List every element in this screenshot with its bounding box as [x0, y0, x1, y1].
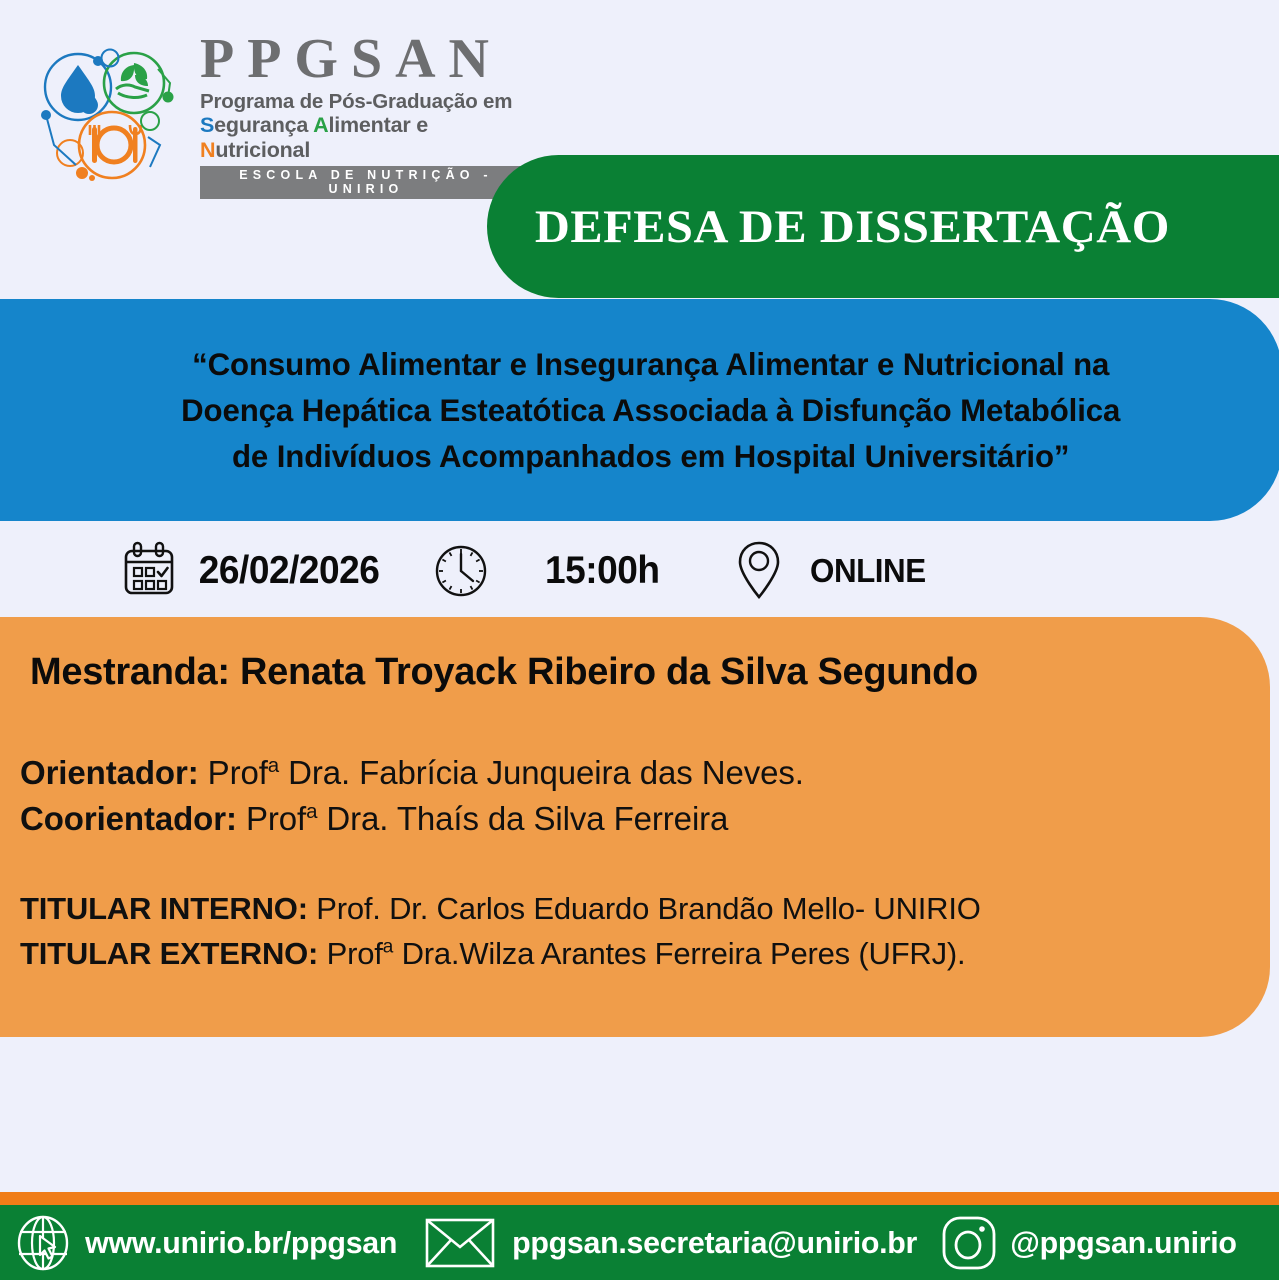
- external-member-line: TITULAR EXTERNO: Profa Dra.Wilza Arantes…: [20, 932, 1270, 977]
- thesis-title-band: “Consumo Alimentar e Insegurança Aliment…: [0, 299, 1279, 521]
- footer-website-text: www.unirio.br/ppgsan: [85, 1225, 397, 1261]
- event-date-text: 26/02/2026: [199, 549, 380, 593]
- ppgsan-n-letter: N: [200, 138, 215, 162]
- ppgsan-alimentar-text: limentar e: [328, 113, 428, 137]
- internal-member-line: TITULAR INTERNO: Prof. Dr. Carlos Eduard…: [20, 887, 1270, 932]
- poster-canvas: PPGSAN Programa de Pós-Graduação em Segu…: [0, 0, 1279, 1280]
- ppgsan-a-letter: A: [313, 113, 328, 137]
- advisor-title: Prof: [208, 754, 268, 791]
- advisor-name: Dra. Fabrícia Junqueira das Neves.: [279, 754, 804, 791]
- coadvisor-line: Coorientador: Profa Dra. Thaís da Silva …: [20, 796, 1270, 842]
- calendar-icon: [118, 541, 180, 601]
- defense-banner-label: DEFESA DE DISSERTAÇÃO: [535, 200, 1232, 254]
- ppgsan-subtitle-line2: Segurança Alimentar e Nutricional: [200, 113, 530, 162]
- advisor-label: Orientador:: [20, 754, 199, 791]
- event-info-row: 26/02/2026 15:00h ON: [0, 525, 1279, 617]
- event-time-text: 15:00h: [545, 549, 660, 593]
- ppgsan-logo-mark: [30, 45, 190, 185]
- footer-email-text: ppgsan.secretaria@unirio.br: [512, 1225, 917, 1261]
- student-name: Renata Troyack Ribeiro da Silva Segundo: [240, 651, 978, 693]
- footer-email[interactable]: ppgsan.secretaria@unirio.br: [424, 1216, 921, 1270]
- student-line: Mestranda: Renata Troyack Ribeiro da Sil…: [30, 651, 1270, 694]
- logo-graphic-icon: [30, 45, 190, 185]
- external-member-title: Prof: [327, 936, 383, 971]
- event-date: 26/02/2026: [118, 541, 384, 601]
- event-location-text: ONLINE: [810, 552, 926, 590]
- map-pin-icon: [733, 540, 785, 602]
- footer-instagram-text: @ppgsan.unirio: [1010, 1225, 1236, 1261]
- thesis-title-line1: “Consumo Alimentar e Insegurança Aliment…: [96, 341, 1205, 387]
- examination-board-block: TITULAR INTERNO: Prof. Dr. Carlos Eduard…: [20, 887, 1270, 977]
- student-label: Mestranda:: [30, 651, 230, 693]
- footer-contact-bar: www.unirio.br/ppgsan ppgsan.secretaria@u…: [0, 1205, 1279, 1280]
- external-member-label: TITULAR EXTERNO:: [20, 936, 318, 971]
- footer-instagram[interactable]: @ppgsan.unirio: [940, 1214, 1239, 1272]
- internal-member-label: TITULAR INTERNO:: [20, 891, 308, 926]
- coadvisor-title: Prof: [246, 800, 306, 837]
- ppgsan-logo-text: PPGSAN Programa de Pós-Graduação em Segu…: [200, 31, 530, 198]
- thesis-title-line2: Doença Hepática Esteatótica Associada à …: [96, 387, 1205, 433]
- event-time: 15:00h: [432, 542, 663, 600]
- people-panel: Mestranda: Renata Troyack Ribeiro da Sil…: [0, 617, 1270, 1037]
- internal-member-name: Prof. Dr. Carlos Eduardo Brandão Mello- …: [308, 891, 981, 926]
- thesis-title-line3: de Indivíduos Acompanhados em Hospital U…: [96, 433, 1205, 479]
- sponsor-logos: UNIRIO Universidade Federal do Estado do…: [0, 1060, 1279, 1190]
- ppgsan-nutricional-text: utricional: [215, 138, 310, 162]
- footer-orange-stripe: [0, 1192, 1279, 1205]
- coadvisor-label: Coorientador:: [20, 800, 237, 837]
- external-member-title-sup: a: [383, 937, 393, 958]
- globe-cursor-icon: [16, 1214, 70, 1272]
- coadvisor-title-sup: a: [306, 800, 317, 823]
- advisors-block: Orientador: Profa Dra. Fabrícia Junqueir…: [20, 750, 1270, 841]
- thesis-title: “Consumo Alimentar e Insegurança Aliment…: [37, 341, 1205, 480]
- ppgsan-seguranca-text: egurança: [214, 113, 313, 137]
- advisor-title-sup: a: [268, 754, 279, 777]
- envelope-icon: [424, 1216, 496, 1270]
- external-member-name: Dra.Wilza Arantes Ferreira Peres (UFRJ).: [393, 936, 965, 971]
- coadvisor-name: Dra. Thaís da Silva Ferreira: [317, 800, 728, 837]
- ppgsan-s-letter: S: [200, 113, 214, 137]
- event-location: ONLINE: [733, 540, 929, 602]
- ppgsan-logo: PPGSAN Programa de Pós-Graduação em Segu…: [30, 40, 530, 190]
- advisor-line: Orientador: Profa Dra. Fabrícia Junqueir…: [20, 750, 1270, 796]
- footer-website[interactable]: www.unirio.br/ppgsan: [16, 1214, 400, 1272]
- defense-banner: DEFESA DE DISSERTAÇÃO: [487, 155, 1279, 298]
- ppgsan-subtitle-line1: Programa de Pós-Graduação em: [200, 90, 530, 114]
- instagram-icon: [940, 1214, 998, 1272]
- clock-icon: [432, 542, 490, 600]
- ppgsan-acronym: PPGSAN: [200, 31, 530, 88]
- ppgsan-school-bar: ESCOLA DE NUTRIÇÃO - UNIRIO: [200, 166, 530, 199]
